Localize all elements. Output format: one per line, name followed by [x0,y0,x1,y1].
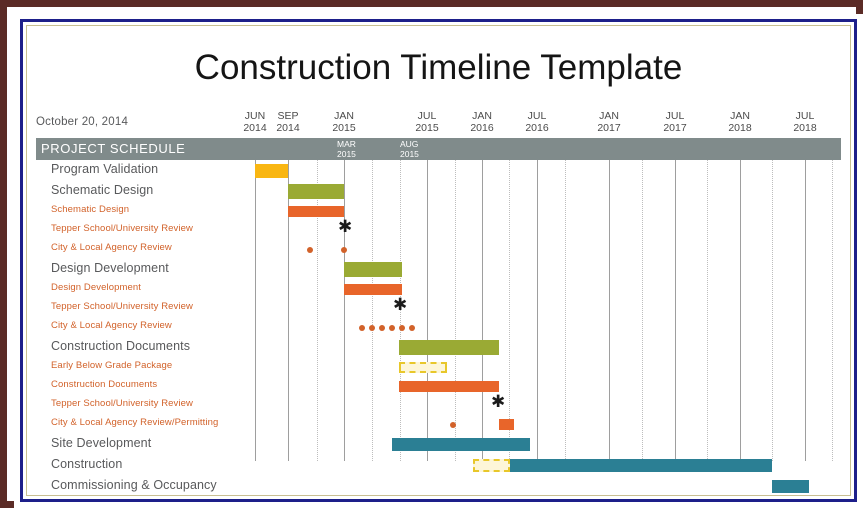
axis-tick-year: 2017 [652,123,698,135]
task-label: Construction Documents [51,379,157,390]
gantt-bar-dashed-teal[interactable] [473,459,510,472]
task-row[interactable]: Construction [27,455,850,476]
axis-tick-month: JAN [321,111,367,123]
task-label: Program Validation [51,162,158,176]
axis-tick-month: JAN [459,111,505,123]
axis-tick-jan-2016: JAN2016 [459,111,505,134]
task-label: Schematic Design [51,204,129,215]
gantt-bar-orange[interactable] [399,381,499,392]
task-row[interactable]: Program Validation [27,160,850,181]
task-label: Tepper School/University Review [51,223,193,234]
axis-tick-sep-2014: SEP2014 [265,111,311,134]
axis-tick-year: 2014 [265,123,311,135]
task-row[interactable]: Design Development [27,259,850,280]
timeline-sheet: Construction Timeline Template October 2… [27,26,850,495]
gantt-bar-orange[interactable] [344,284,402,295]
task-rows: Program ValidationSchematic DesignSchema… [27,160,850,495]
task-row[interactable]: Schematic Design [27,202,850,221]
task-row[interactable]: Schematic Design [27,181,850,202]
page-title: Construction Timeline Template [27,48,850,88]
task-label: City & Local Agency Review [51,320,172,331]
task-label: Design Development [51,261,169,275]
gantt-bar-teal[interactable] [392,438,530,451]
task-row[interactable]: Tepper School/University Review✱ [27,396,850,415]
gantt-bar-dashed[interactable] [399,362,447,373]
axis-tick-jul-2017: JUL2017 [652,111,698,134]
axis-tick-jul-2018: JUL2018 [782,111,828,134]
task-row[interactable]: Construction Documents [27,377,850,396]
gantt-bar-yellow[interactable] [255,164,288,178]
task-label: Design Development [51,282,141,293]
task-label: Tepper School/University Review [51,301,193,312]
task-row[interactable]: Commissioning & Occupancy [27,476,850,495]
axis-tick-month: JUL [652,111,698,123]
milestone-dot[interactable] [409,325,415,331]
task-row[interactable]: Tepper School/University Review✱ [27,221,850,240]
task-label: Site Development [51,436,151,450]
axis-tick-jul-2016: JUL2016 [514,111,560,134]
band-tag-mar-2015: MAR2015 [337,140,356,159]
milestone-dot[interactable] [399,325,405,331]
axis-tick-year: 2015 [404,123,450,135]
milestone-star-icon[interactable]: ✱ [338,219,352,236]
axis-tick-month: JUL [404,111,450,123]
axis-tick-year: 2016 [459,123,505,135]
milestone-dot[interactable] [341,247,347,253]
milestone-dot[interactable] [359,325,365,331]
task-label: Schematic Design [51,183,153,197]
task-label: Construction [51,457,122,471]
task-label: Commissioning & Occupancy [51,478,217,492]
milestone-star-icon[interactable]: ✱ [491,394,505,411]
axis-tick-labels: JUN2014SEP2014JAN2015JUL2015JAN2016JUL20… [27,111,850,137]
task-label: Tepper School/University Review [51,398,193,409]
task-row[interactable]: Construction Documents [27,337,850,358]
axis-tick-month: JAN [717,111,763,123]
axis-tick-jan-2018: JAN2018 [717,111,763,134]
axis-tick-year: 2015 [321,123,367,135]
task-label: City & Local Agency Review [51,242,172,253]
band-tag-year: 2015 [400,150,419,160]
band-title: PROJECT SCHEDULE [41,141,185,156]
axis-tick-jan-2015: JAN2015 [321,111,367,134]
axis-tick-year: 2018 [782,123,828,135]
task-label: Early Below Grade Package [51,360,172,371]
task-row[interactable]: City & Local Agency Review/Permitting [27,415,850,434]
task-row[interactable]: Site Development [27,434,850,455]
task-row[interactable]: City & Local Agency Review [27,318,850,337]
milestone-dot[interactable] [450,422,456,428]
gantt-bar-green[interactable] [399,340,499,355]
band-tag-aug-2015: AUG2015 [400,140,419,159]
milestone-dot[interactable] [307,247,313,253]
gantt-bar-teal[interactable] [772,480,809,493]
task-label: City & Local Agency Review/Permitting [51,417,218,428]
axis-tick-year: 2016 [514,123,560,135]
band-tag-year: 2015 [337,150,356,160]
gantt-bar-orange[interactable] [499,419,514,430]
axis-tick-year: 2017 [586,123,632,135]
axis-tick-jul-2015: JUL2015 [404,111,450,134]
milestone-dot[interactable] [369,325,375,331]
gantt-bar-green[interactable] [344,262,402,277]
axis-tick-month: JUL [514,111,560,123]
axis-tick-jan-2017: JAN2017 [586,111,632,134]
task-row[interactable]: Early Below Grade Package [27,358,850,377]
gantt-chart: JUN2014SEP2014JAN2015JUL2015JAN2016JUL20… [27,111,850,461]
gantt-bar-orange[interactable] [288,206,344,217]
gantt-bar-teal[interactable] [510,459,772,472]
axis-tick-month: SEP [265,111,311,123]
milestone-star-icon[interactable]: ✱ [393,297,407,314]
milestone-dot[interactable] [379,325,385,331]
task-row[interactable]: City & Local Agency Review [27,240,850,259]
axis-tick-year: 2018 [717,123,763,135]
task-row[interactable]: Tepper School/University Review✱ [27,299,850,318]
milestone-dot[interactable] [389,325,395,331]
task-row[interactable]: Design Development [27,280,850,299]
task-label: Construction Documents [51,339,190,353]
gantt-bar-green[interactable] [288,184,344,199]
axis-tick-month: JUL [782,111,828,123]
axis-tick-month: JAN [586,111,632,123]
outer-frame: Construction Timeline Template October 2… [0,0,863,508]
